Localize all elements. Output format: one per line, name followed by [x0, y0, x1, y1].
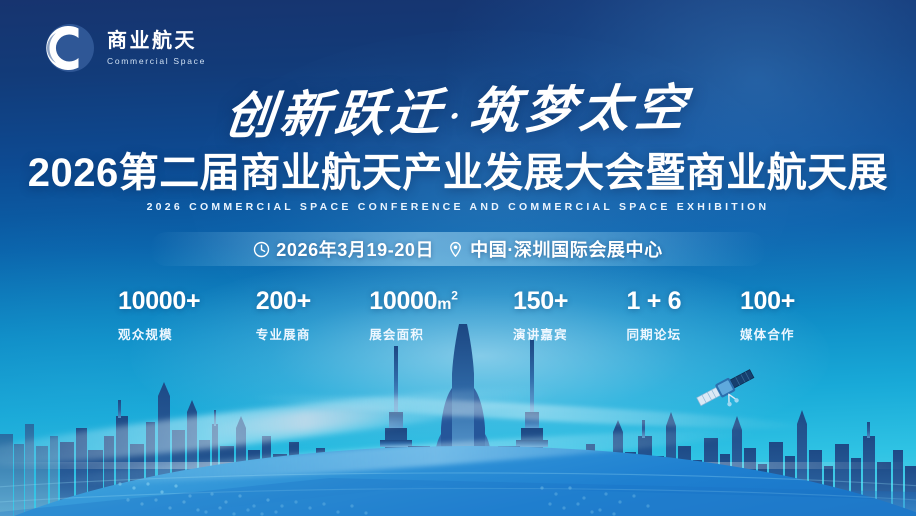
brand-logo-text: 商业航天 Commercial Space: [107, 30, 206, 66]
stat-label: 媒体合作: [740, 324, 798, 343]
skyline-right: [572, 410, 916, 516]
title-block: 2026第二届商业航天产业发展大会暨商业航天展 2026 COMMERCIAL …: [0, 152, 916, 213]
launch-tower-left-icon: [368, 346, 430, 514]
calligraphy-left: 创新跃迁: [222, 82, 449, 145]
stat-label: 同期论坛: [626, 324, 684, 343]
satellite-icon: [690, 358, 762, 420]
brand-name-en: Commercial Space: [107, 56, 206, 66]
light-streak-c: [250, 389, 810, 434]
background-glow-horizon: [130, 251, 830, 461]
stat-item: 200+ 专业展商: [256, 289, 314, 343]
stat-item: 100+ 媒体合作: [740, 289, 798, 343]
location-pin-icon: [447, 241, 464, 258]
stat-item: 1 + 6 同期论坛: [626, 289, 684, 343]
main-title-en: 2026 COMMERCIAL SPACE CONFERENCE AND COM…: [0, 201, 916, 213]
launch-tower-right-icon: [498, 340, 560, 514]
light-streak-warm: [199, 399, 410, 443]
stat-item: 10000m2 展会面积: [369, 289, 457, 343]
clock-icon: [253, 241, 270, 258]
date-location-band: 2026年3月19-20日 中国·深圳国际会展中心: [150, 232, 766, 266]
light-streak-a: [0, 375, 560, 479]
calligraphy-right: 筑梦太空: [467, 78, 694, 141]
stat-value: 200+: [256, 289, 314, 314]
stat-item: 10000+ 观众规模: [118, 289, 200, 343]
light-plane-2: [150, 486, 916, 516]
stat-value: 100+: [740, 289, 798, 314]
horizon-glow-line: [0, 462, 916, 469]
dotted-globe-icon: [0, 446, 916, 516]
commercial-space-c-logo-icon: [44, 22, 96, 74]
light-streak-b: [40, 421, 760, 493]
event-date-text: 2026年3月19-20日: [276, 236, 434, 262]
launch-rocket-icon: [411, 324, 515, 516]
stat-label: 展会面积: [369, 324, 457, 343]
stat-label: 观众规模: [118, 324, 200, 343]
stat-label: 专业展商: [256, 324, 314, 343]
stat-value: 10000+: [118, 289, 200, 314]
conference-banner: 商业航天 Commercial Space 创新跃迁·筑梦太空 2026第二届商…: [0, 0, 916, 516]
light-plane: [0, 478, 916, 516]
stat-value: 150+: [513, 289, 571, 314]
stat-value: 1 + 6: [626, 289, 684, 314]
stat-label: 演讲嘉宾: [513, 324, 571, 343]
main-title-cn: 2026第二届商业航天产业发展大会暨商业航天展: [0, 152, 916, 195]
skyline-far-left: [0, 424, 58, 516]
statistics-row: 10000+ 观众规模 200+ 专业展商 10000m2 展会面积 150+ …: [118, 289, 798, 343]
stat-value: 10000m2: [369, 289, 457, 314]
event-location-text: 中国·深圳国际会展中心: [470, 236, 663, 262]
brand-name-cn: 商业航天: [107, 30, 206, 53]
event-date: 2026年3月19-20日: [253, 236, 434, 262]
event-location: 中国·深圳国际会展中心: [447, 236, 663, 262]
calligraphy-slogan: 创新跃迁·筑梦太空: [0, 63, 916, 153]
stat-item: 150+ 演讲嘉宾: [513, 289, 571, 343]
skyline-left: [60, 382, 351, 516]
brand-logo[interactable]: 商业航天 Commercial Space: [44, 22, 206, 74]
city-skyline-silhouette: [0, 316, 916, 516]
